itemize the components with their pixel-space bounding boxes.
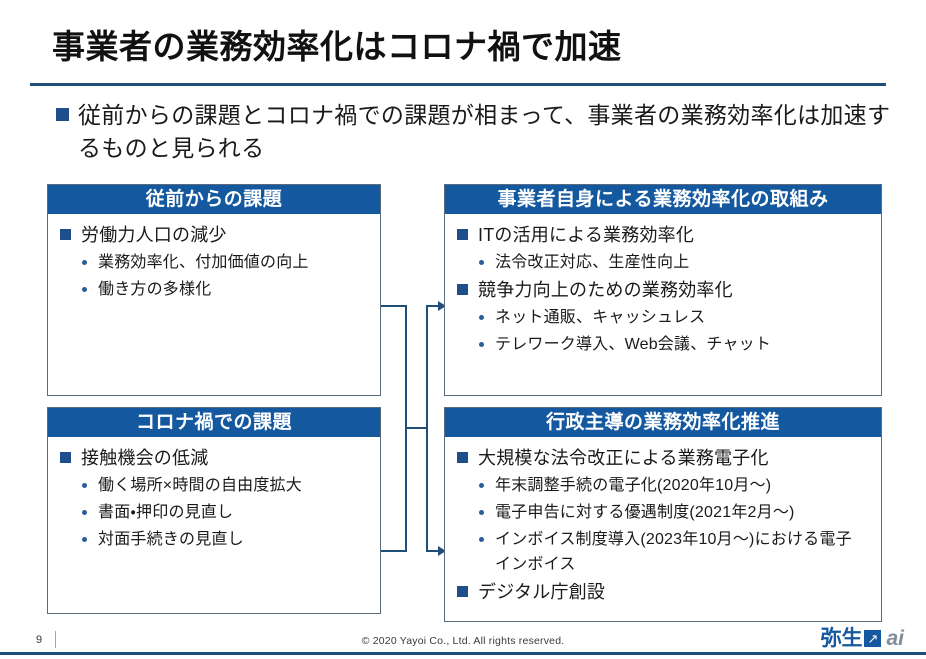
lead-paragraph: 従前からの課題とコロナ禍での課題が相まって、事業者の業務効率化は加速するものと見…: [56, 99, 896, 165]
list-item-label: デジタル庁創設: [478, 579, 605, 605]
dot-bullet-icon: [82, 260, 87, 265]
list-item-label: 電子申告に対する優遇制度(2021年2月～): [495, 500, 795, 525]
title-divider: [30, 83, 886, 86]
copyright-text: © 2020 Yayoi Co., Ltd. All rights reserv…: [0, 635, 926, 647]
footer-rule: [0, 652, 926, 655]
dot-bullet-icon: [479, 510, 484, 515]
square-bullet-icon: [56, 108, 69, 121]
lead-paragraph-text: 従前からの課題とコロナ禍での課題が相まって、事業者の業務効率化は加速するものと見…: [78, 99, 896, 165]
box-government-push: 行政主導の業務効率化推進 大規模な法令改正による業務電子化 年末調整手続の電子化…: [444, 407, 882, 622]
list-item: 大規模な法令改正による業務電子化: [451, 445, 875, 471]
list-item: 労働力人口の減少: [54, 222, 374, 248]
list-item-label: 業務効率化、付加価値の向上: [98, 250, 309, 275]
list-item-label: テレワーク導入、Web会議、チャット: [495, 332, 771, 357]
list-item-label: 法令改正対応、生産性向上: [495, 250, 689, 275]
square-bullet-icon: [457, 284, 468, 295]
list-item-label: ITの活用による業務効率化: [478, 222, 694, 248]
square-bullet-icon: [457, 586, 468, 597]
box-corona-issues: コロナ禍での課題 接触機会の低減 働く場所×時間の自由度拡大 書面・押印の見直し…: [47, 407, 381, 614]
page-title: 事業者の業務効率化はコロナ禍で加速: [52, 20, 622, 68]
list-item: 電子申告に対する優遇制度(2021年2月～): [451, 500, 875, 525]
list-item: テレワーク導入、Web会議、チャット: [451, 332, 875, 357]
logo-suffix: ai: [886, 628, 904, 649]
list-item-label: 働く場所×時間の自由度拡大: [98, 473, 302, 498]
connector-segment: [381, 550, 407, 552]
dot-bullet-icon: [479, 537, 484, 542]
yayoi-logo: 弥生 ↗ ai: [820, 628, 904, 649]
list-item-label: 大規模な法令改正による業務電子化: [478, 445, 769, 471]
list-item: 業務効率化、付加価値の向上: [54, 250, 374, 275]
list-item-label: 対面手続きの見直し: [98, 527, 244, 552]
box-government-push-header: 行政主導の業務効率化推進: [445, 408, 881, 437]
dot-bullet-icon: [479, 315, 484, 320]
connector-segment: [405, 427, 428, 429]
list-item: ITの活用による業務効率化: [451, 222, 875, 248]
box-business-efforts-body: ITの活用による業務効率化 法令改正対応、生産性向上 競争力向上のための業務効率…: [445, 214, 881, 363]
box-business-efforts: 事業者自身による業務効率化の取組み ITの活用による業務効率化 法令改正対応、生…: [444, 184, 882, 396]
connector-segment: [381, 305, 407, 307]
list-item: 働く場所×時間の自由度拡大: [54, 473, 374, 498]
list-item: 書面・押印の見直し: [54, 500, 374, 525]
list-item-label: 働き方の多様化: [98, 277, 211, 302]
box-corona-issues-body: 接触機会の低減 働く場所×時間の自由度拡大 書面・押印の見直し 対面手続きの見直…: [48, 437, 380, 558]
list-item-label: 年末調整手続の電子化(2020年10月～): [495, 473, 771, 498]
box-business-efforts-header: 事業者自身による業務効率化の取組み: [445, 185, 881, 214]
box-corona-issues-header: コロナ禍での課題: [48, 408, 380, 437]
list-item: 接触機会の低減: [54, 445, 374, 471]
dot-bullet-icon: [82, 483, 87, 488]
list-item-label: 接触機会の低減: [81, 445, 208, 471]
list-item: 競争力向上のための業務効率化: [451, 277, 875, 303]
list-item-label: 書面・押印の見直し: [98, 500, 233, 525]
list-item-label: 競争力向上のための業務効率化: [478, 277, 733, 303]
list-item-label: 労働力人口の減少: [81, 222, 227, 248]
list-item-label: ネット通販、キャッシュレス: [495, 305, 705, 330]
square-bullet-icon: [60, 229, 71, 240]
square-bullet-icon: [457, 452, 468, 463]
list-item: 対面手続きの見直し: [54, 527, 374, 552]
dot-bullet-icon: [82, 287, 87, 292]
dot-bullet-icon: [82, 537, 87, 542]
list-item: 法令改正対応、生産性向上: [451, 250, 875, 275]
slide-canvas: 事業者の業務効率化はコロナ禍で加速 従前からの課題とコロナ禍での課題が相まって、…: [0, 0, 926, 659]
box-prior-issues: 従前からの課題 労働力人口の減少 業務効率化、付加価値の向上 働き方の多様化: [47, 184, 381, 396]
box-government-push-body: 大規模な法令改正による業務電子化 年末調整手続の電子化(2020年10月～) 電…: [445, 437, 881, 611]
connector-segment: [426, 305, 428, 552]
logo-wordmark: 弥生: [820, 628, 862, 649]
list-item: デジタル庁創設: [451, 579, 875, 605]
box-prior-issues-header: 従前からの課題: [48, 185, 380, 214]
list-item: インボイス制度導入(2023年10月～)における電子インボイス: [451, 527, 875, 577]
list-item: 年末調整手続の電子化(2020年10月～): [451, 473, 875, 498]
square-bullet-icon: [457, 229, 468, 240]
square-bullet-icon: [60, 452, 71, 463]
list-item: ネット通販、キャッシュレス: [451, 305, 875, 330]
dot-bullet-icon: [479, 260, 484, 265]
list-item: 働き方の多様化: [54, 277, 374, 302]
list-item-label: インボイス制度導入(2023年10月～)における電子インボイス: [495, 527, 867, 577]
dot-bullet-icon: [479, 483, 484, 488]
box-prior-issues-body: 労働力人口の減少 業務効率化、付加価値の向上 働き方の多様化: [48, 214, 380, 308]
dot-bullet-icon: [479, 342, 484, 347]
dot-bullet-icon: [82, 510, 87, 515]
arrow-mark-icon: ↗: [864, 630, 881, 647]
